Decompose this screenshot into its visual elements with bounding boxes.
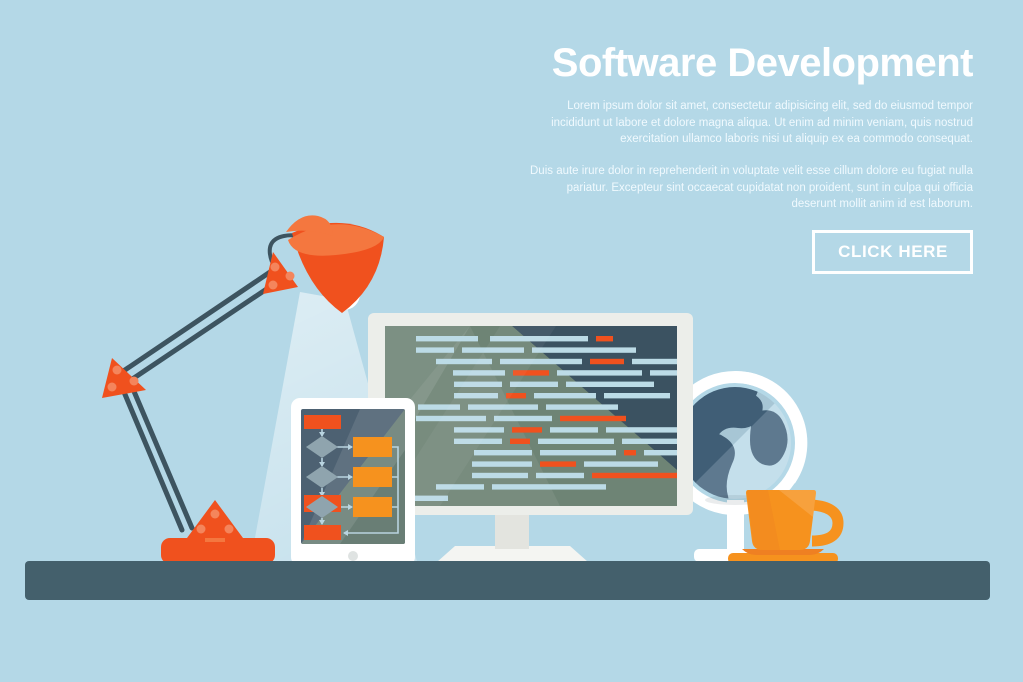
code-line-segment (566, 382, 654, 387)
tablet (291, 398, 415, 566)
flow-node-branch-1 (353, 437, 392, 457)
code-line-segment (624, 450, 636, 455)
code-line-segment (596, 336, 613, 341)
flow-node-branch-3 (353, 497, 392, 517)
code-line-segment (512, 427, 542, 432)
code-line-segment (532, 347, 636, 352)
code-line-segment (510, 439, 530, 444)
code-line-segment (604, 393, 670, 398)
hero-paragraph-1: Lorem ipsum dolor sit amet, consectetur … (528, 98, 973, 147)
code-line-segment (590, 359, 624, 364)
desk (25, 561, 990, 600)
code-line-segment (416, 336, 478, 341)
code-line-segment (538, 439, 614, 444)
code-line-segment (472, 473, 528, 478)
flow-node-branch-2 (353, 467, 392, 487)
code-line-segment (474, 450, 532, 455)
code-line-segment (560, 416, 626, 421)
code-line-segment (536, 473, 584, 478)
code-line-segment (557, 370, 642, 375)
code-line-segment (534, 393, 596, 398)
flow-node-start (304, 415, 341, 429)
code-line-segment (494, 416, 552, 421)
code-line-segment (592, 473, 682, 478)
click-here-button[interactable]: CLICK HERE (812, 230, 973, 274)
code-line-segment (416, 347, 454, 352)
hero-text-block: Software Development Lorem ipsum dolor s… (528, 42, 973, 274)
illustration-scene: Software Development Lorem ipsum dolor s… (0, 0, 1023, 682)
code-line-segment (540, 461, 576, 466)
code-line-segment (540, 450, 616, 455)
code-line-segment (472, 461, 532, 466)
page-title: Software Development (528, 42, 973, 84)
code-line-segment (584, 461, 658, 466)
code-line-segment (546, 404, 618, 409)
flow-node-end (304, 525, 341, 540)
code-line-segment (492, 484, 606, 489)
code-line-segment (550, 427, 598, 432)
hero-paragraph-2: Duis aute irure dolor in reprehenderit i… (528, 163, 973, 212)
